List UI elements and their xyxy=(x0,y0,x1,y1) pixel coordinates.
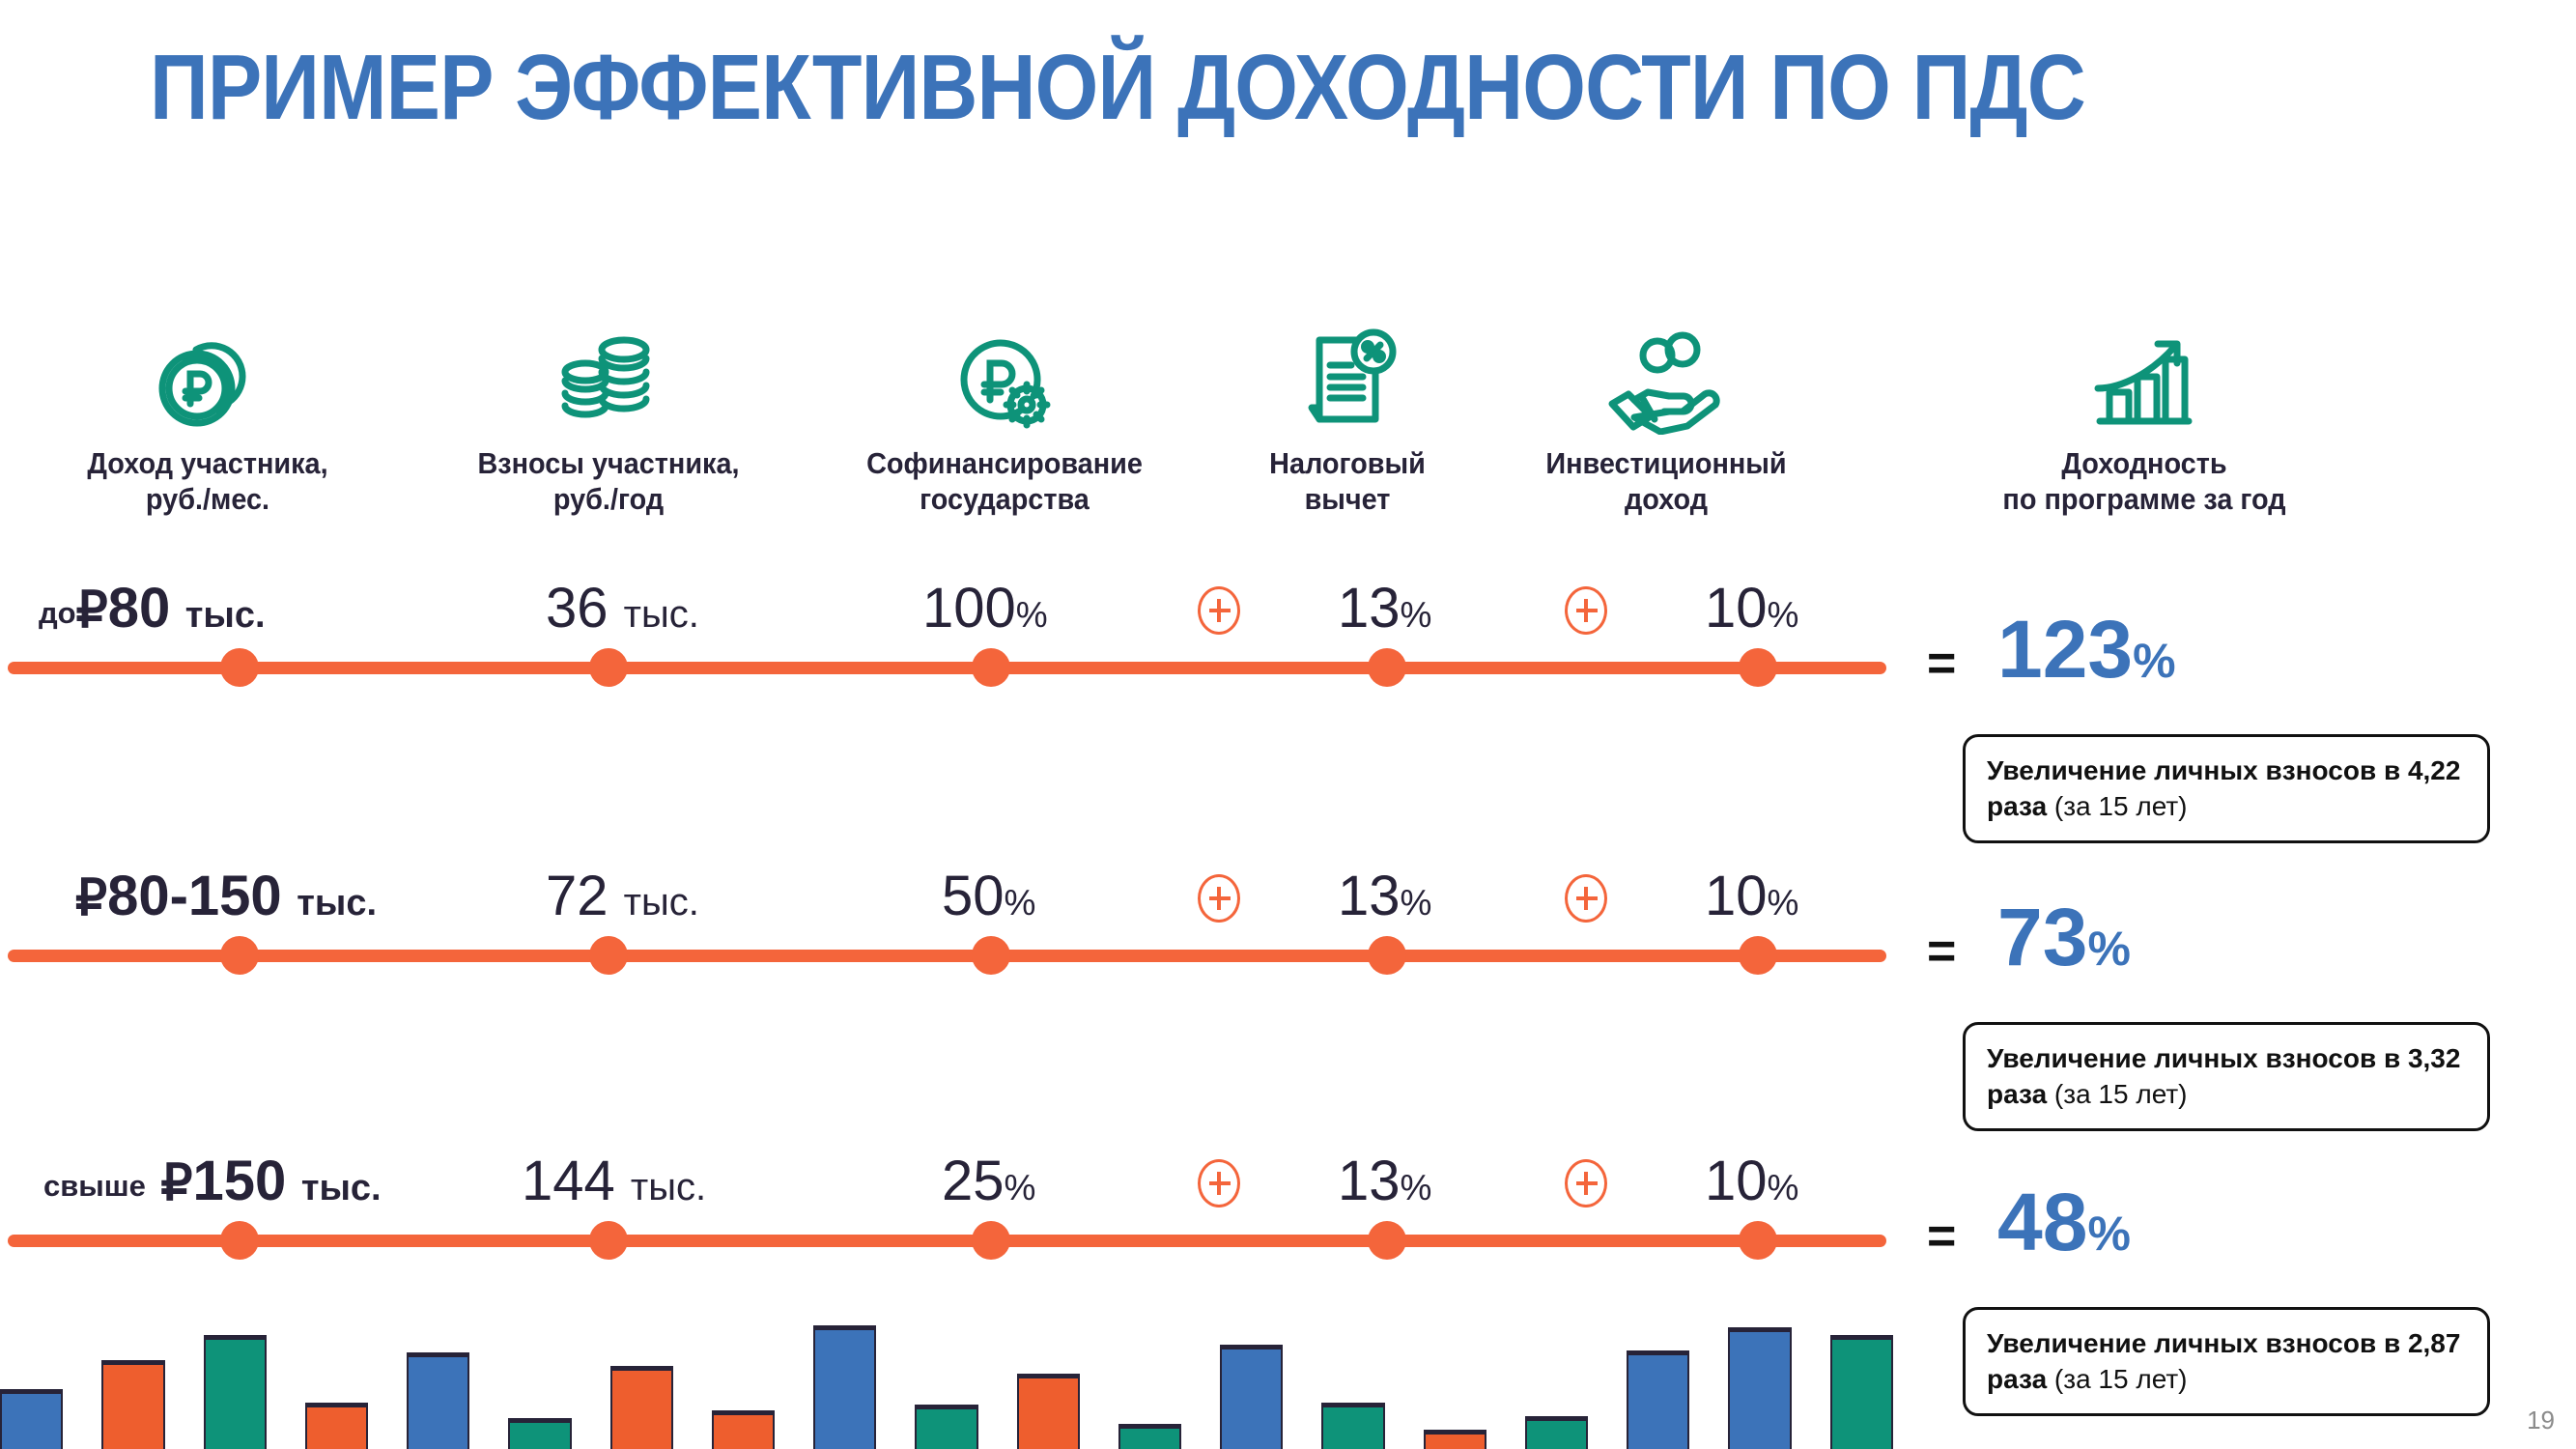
callout-box: Увеличение личных взносов в 3,32 раза (з… xyxy=(1963,1022,2490,1131)
income-value: до₽80 тыс. xyxy=(39,581,266,637)
plus-icon xyxy=(1565,874,1607,923)
column-headers: Доход участника, руб./мес. xyxy=(0,319,2511,517)
income-value: ₽80-150 тыс. xyxy=(75,868,377,924)
decorative-bar xyxy=(1728,1327,1791,1449)
track-dot xyxy=(1368,648,1406,687)
callout-note-text: (за 15 лет) xyxy=(2054,1079,2188,1109)
track-bar xyxy=(8,662,1886,674)
track-dot xyxy=(220,648,259,687)
track-dot xyxy=(589,936,628,975)
slide: ПРИМЕР ЭФФЕКТИВНОЙ ДОХОДНОСТИ ПО ПДС Дох… xyxy=(0,0,2576,1449)
decorative-bar xyxy=(101,1360,164,1449)
data-row-2: ₽80-150 тыс. 72 тыс. 50% 13% 10% xyxy=(0,853,2576,924)
cofinance-value: 25% xyxy=(942,1153,1035,1209)
investment-value: 10% xyxy=(1705,1153,1798,1209)
result-value: 123% xyxy=(1997,609,2176,690)
decorative-bar-chart xyxy=(0,1294,1932,1449)
connector-track xyxy=(8,1230,1886,1251)
plus-icon xyxy=(1198,874,1240,923)
decorative-bar xyxy=(407,1352,469,1449)
plus-icon xyxy=(1198,1159,1240,1207)
callout-note-text: (за 15 лет) xyxy=(2054,791,2188,821)
decorative-bar xyxy=(610,1366,673,1449)
column-program-yield: Доходность по программе за год xyxy=(1845,319,2444,517)
decorative-bar xyxy=(915,1405,977,1449)
decorative-bar xyxy=(1118,1424,1181,1449)
decorative-bar xyxy=(1220,1345,1283,1449)
callout-box: Увеличение личных взносов в 4,22 раза (з… xyxy=(1963,734,2490,843)
decorative-bar xyxy=(1017,1374,1080,1449)
decorative-bar xyxy=(813,1325,876,1449)
callout-note-text: (за 15 лет) xyxy=(2054,1364,2188,1394)
track-dot xyxy=(972,936,1010,975)
track-dot xyxy=(972,648,1010,687)
data-row-1: до₽80 тыс. 36 тыс. 100% 13% 10% xyxy=(0,565,2576,637)
column-contributions: Взносы участника, руб./год xyxy=(415,319,802,517)
equals-sign: = xyxy=(1927,635,1956,693)
tax-deduction-value: 13% xyxy=(1338,868,1431,924)
decorative-bar xyxy=(0,1389,63,1449)
track-dot xyxy=(1739,648,1777,687)
equals-sign: = xyxy=(1927,923,1956,980)
investment-value: 10% xyxy=(1705,868,1798,924)
column-tax-deduction: Налоговый вычет xyxy=(1207,319,1487,517)
track-bar xyxy=(8,950,1886,962)
hand-coins-icon xyxy=(1487,319,1845,435)
decorative-bar xyxy=(1424,1430,1486,1449)
growth-chart-icon xyxy=(1845,319,2444,435)
cofinance-value: 50% xyxy=(942,868,1035,924)
decorative-bar xyxy=(712,1410,775,1449)
track-dot xyxy=(1739,1221,1777,1260)
column-label: Инвестиционный доход xyxy=(1500,446,1832,517)
result-value: 48% xyxy=(1997,1181,2131,1263)
coins-ruble-icon xyxy=(0,319,415,435)
track-bar xyxy=(8,1235,1886,1247)
contribution-value: 72 тыс. xyxy=(546,868,699,924)
ruble-gear-icon xyxy=(802,319,1207,435)
track-dot xyxy=(972,1221,1010,1260)
decorative-bar xyxy=(1321,1403,1384,1449)
column-label: Налоговый вычет xyxy=(1217,446,1478,517)
equals-sign: = xyxy=(1927,1207,1956,1265)
track-dot xyxy=(1368,936,1406,975)
connector-track xyxy=(8,945,1886,966)
document-percent-icon xyxy=(1207,319,1487,435)
track-dot xyxy=(220,936,259,975)
result-value: 73% xyxy=(1997,896,2131,978)
contribution-value: 144 тыс. xyxy=(522,1153,706,1209)
track-dot xyxy=(1368,1221,1406,1260)
column-cofinancing: Софинансирование государства xyxy=(802,319,1207,517)
tax-deduction-value: 13% xyxy=(1338,1153,1431,1209)
tax-deduction-value: 13% xyxy=(1338,581,1431,637)
decorative-bar xyxy=(1830,1335,1893,1449)
callout-box: Увеличение личных взносов в 2,87 раза (з… xyxy=(1963,1307,2490,1416)
connector-track xyxy=(8,657,1886,678)
track-dot xyxy=(589,1221,628,1260)
income-value: свыше ₽150 тыс. xyxy=(43,1153,382,1209)
data-row-3: свыше ₽150 тыс. 144 тыс. 25% 13% 10% xyxy=(0,1138,2576,1209)
column-label: Доходность по программе за год xyxy=(1866,446,2423,517)
contribution-value: 36 тыс. xyxy=(546,581,699,637)
plus-icon xyxy=(1565,586,1607,635)
column-income: Доход участника, руб./мес. xyxy=(0,319,415,517)
decorative-bar xyxy=(1525,1416,1588,1449)
column-investment-income: Инвестиционный доход xyxy=(1487,319,1845,517)
decorative-bar xyxy=(305,1403,368,1449)
column-label: Доход участника, руб./мес. xyxy=(14,446,401,517)
plus-icon xyxy=(1198,586,1240,635)
column-label: Софинансирование государства xyxy=(816,446,1194,517)
track-dot xyxy=(1739,936,1777,975)
track-dot xyxy=(589,648,628,687)
investment-value: 10% xyxy=(1705,581,1798,637)
decorative-bar xyxy=(1627,1350,1689,1449)
page-title: ПРИМЕР ЭФФЕКТИВНОЙ ДОХОДНОСТИ ПО ПДС xyxy=(150,41,2190,135)
decorative-bar xyxy=(204,1335,267,1449)
column-label: Взносы участника, руб./год xyxy=(429,446,788,517)
plus-icon xyxy=(1565,1159,1607,1207)
cofinance-value: 100% xyxy=(922,581,1048,637)
track-dot xyxy=(220,1221,259,1260)
decorative-bar xyxy=(508,1418,571,1449)
page-number: 19 xyxy=(2527,1406,2555,1435)
coin-stacks-icon xyxy=(415,319,802,435)
